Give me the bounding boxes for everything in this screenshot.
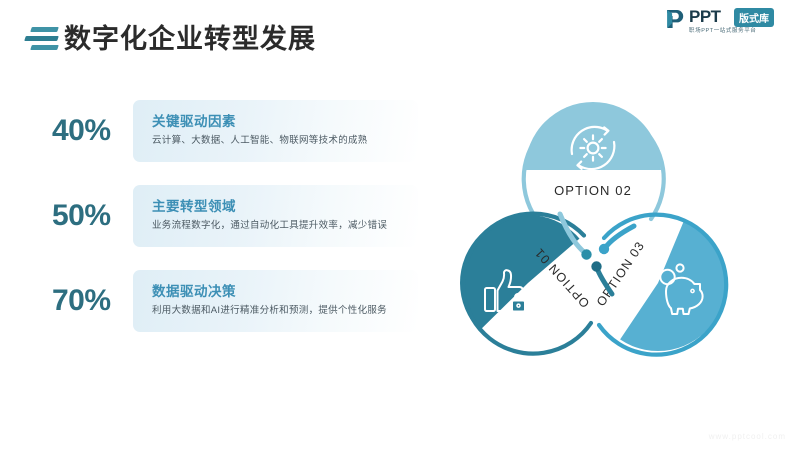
stat-description: 利用大数据和AI进行精准分析和预测，提供个性化服务 <box>152 302 387 316</box>
diagram-option-01[interactable]: OPTION 01 <box>449 208 592 354</box>
stat-heading: 主要转型领域 <box>152 195 236 215</box>
brand-tagline: 职场PPT一站式服务平台 <box>689 26 756 34</box>
connector-03 <box>605 226 634 248</box>
stat-percent: 50% <box>52 199 132 233</box>
connector-dot-03 <box>599 244 609 254</box>
list-item[interactable]: 50% 主要转型领域 业务流程数字化，通过自动化工具提升效率，减少错误 <box>0 185 430 270</box>
brand-logo: PPT 版式库 职场PPT一站式服务平台 <box>664 7 782 35</box>
list-item[interactable]: 40% 关键驱动因素 云计算、大数据、人工智能、物联网等技术的成熟 <box>0 100 430 185</box>
stats-list: 40% 关键驱动因素 云计算、大数据、人工智能、物联网等技术的成熟 50% 主要… <box>0 100 430 355</box>
brand-badge: 版式库 <box>734 8 774 27</box>
slide-canvas: 数字化企业转型发展 PPT 版式库 职场PPT一站式服务平台 40% 关键驱动因… <box>0 0 800 450</box>
stat-percent: 40% <box>52 114 132 148</box>
connector-dot-01 <box>591 261 601 271</box>
option-03-fill <box>613 211 729 359</box>
diagram-option-03[interactable]: OPTION 03 <box>594 211 730 359</box>
brand-p-icon <box>664 8 686 30</box>
watermark: www.pptcool.com <box>709 432 786 441</box>
italic-bars-icon <box>22 25 62 53</box>
diagram-option-02[interactable]: OPTION 02 <box>521 98 665 229</box>
list-item[interactable]: 70% 数据驱动决策 利用大数据和AI进行精准分析和预测，提供个性化服务 <box>0 270 430 355</box>
stat-heading: 关键驱动因素 <box>152 110 236 130</box>
stat-description: 业务流程数字化，通过自动化工具提升效率，减少错误 <box>152 217 387 231</box>
stat-percent: 70% <box>52 284 132 318</box>
stat-description: 云计算、大数据、人工智能、物联网等技术的成熟 <box>152 132 368 146</box>
brand-name: PPT <box>689 7 721 27</box>
three-circle-diagram: OPTION 02 OPTION 01 <box>438 78 748 388</box>
stat-heading: 数据驱动决策 <box>152 280 236 300</box>
option-02-label: OPTION 02 <box>554 183 632 198</box>
page-title: 数字化企业转型发展 <box>64 20 316 58</box>
slide-header: 数字化企业转型发展 PPT 版式库 职场PPT一站式服务平台 <box>0 0 800 72</box>
connector-dot-02 <box>581 249 591 259</box>
